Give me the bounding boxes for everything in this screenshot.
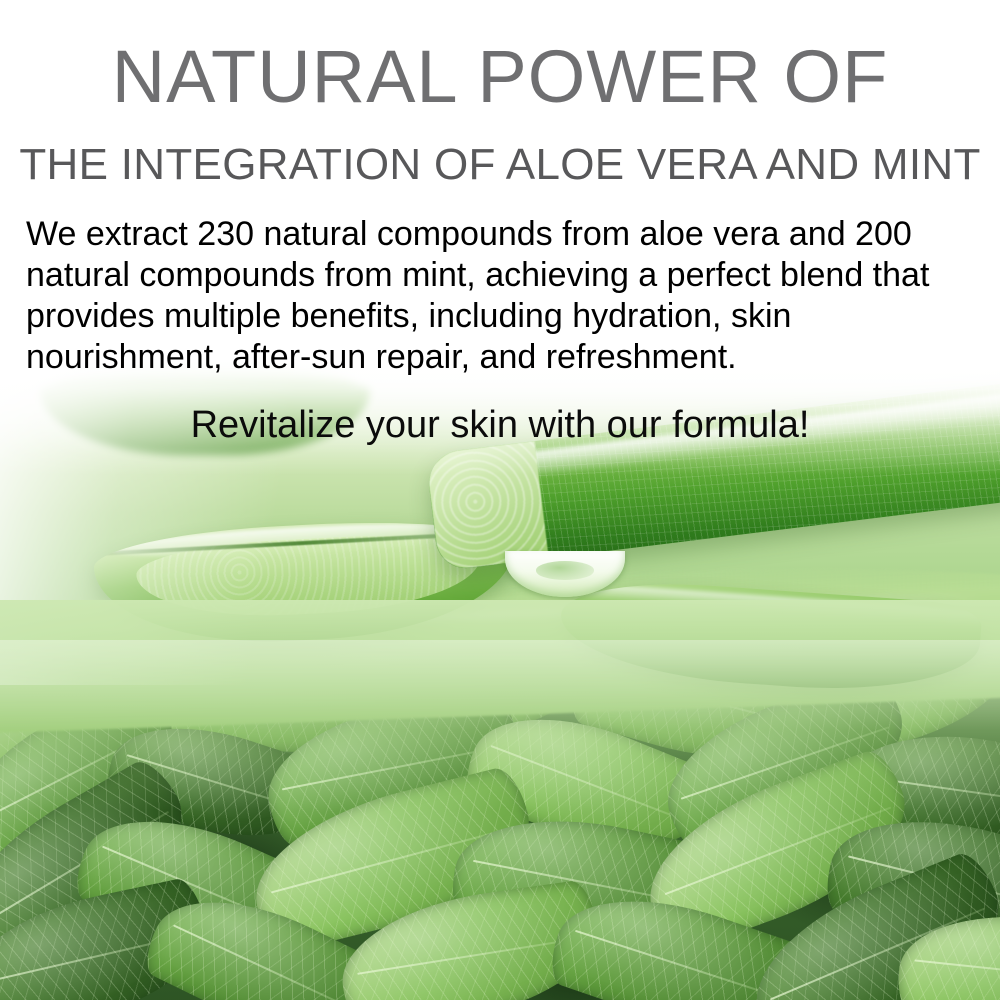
page-subtitle: THE INTEGRATION OF ALOE VERA AND MINT xyxy=(0,140,1000,190)
tagline: Revitalize your skin with our formula! xyxy=(0,402,1000,448)
text-layer: NATURAL POWER OF THE INTEGRATION OF ALOE… xyxy=(0,0,1000,1000)
body-paragraph: We extract 230 natural compounds from al… xyxy=(26,214,974,378)
product-poster: NATURAL POWER OF THE INTEGRATION OF ALOE… xyxy=(0,0,1000,1000)
page-title: NATURAL POWER OF xyxy=(0,36,1000,118)
